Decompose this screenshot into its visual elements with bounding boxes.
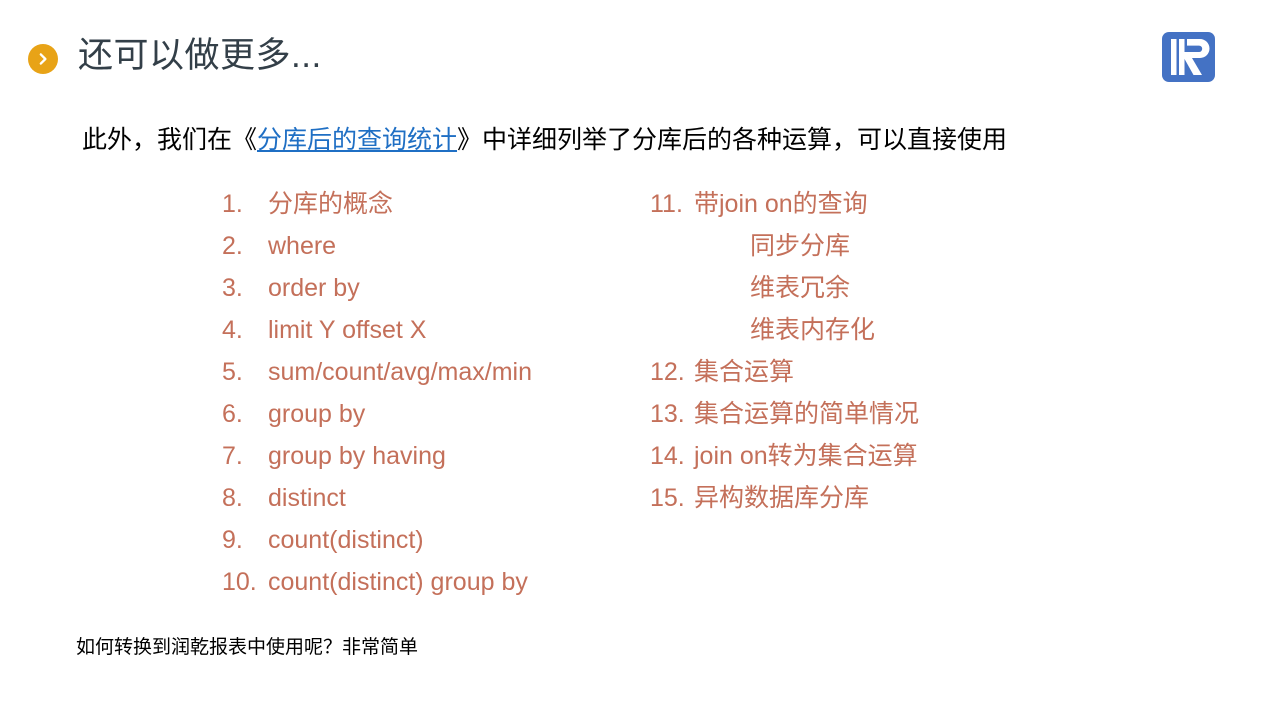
operations-list: 1. 分库的概念 2. where 3. order by 4. limit Y… <box>0 183 1280 603</box>
intro-text-after: 》中详细列举了分库后的各种运算，可以直接使用 <box>457 126 1007 154</box>
list-item[interactable]: 8. distinct <box>222 477 622 519</box>
list-sub-item[interactable]: 维表内存化 <box>650 309 1080 351</box>
list-item-number: 3. <box>222 267 268 309</box>
list-item[interactable]: 3. order by <box>222 267 622 309</box>
list-sub-item-label: 同步分库 <box>750 225 850 267</box>
list-item-number: 13. <box>650 393 694 435</box>
list-item[interactable]: 14. join on转为集合运算 <box>650 435 1080 477</box>
list-item-number: 10. <box>222 561 268 603</box>
chevron-right-icon <box>28 44 58 74</box>
list-sub-item[interactable]: 同步分库 <box>650 225 1080 267</box>
list-item-label: 集合运算的简单情况 <box>694 393 919 435</box>
list-item-label: 带join on的查询 <box>694 183 868 225</box>
list-item-number: 5. <box>222 351 268 393</box>
list-item-number: 8. <box>222 477 268 519</box>
list-item-label: order by <box>268 267 360 309</box>
list-item-label: group by having <box>268 435 446 477</box>
list-sub-item[interactable]: 维表冗余 <box>650 267 1080 309</box>
list-item[interactable]: 7. group by having <box>222 435 622 477</box>
list-item-number: 14. <box>650 435 694 477</box>
list-item[interactable]: 5. sum/count/avg/max/min <box>222 351 622 393</box>
list-item[interactable]: 12. 集合运算 <box>650 351 1080 393</box>
operations-column-right: 11. 带join on的查询 同步分库 维表冗余 维表内存化 12. 集合运算… <box>650 183 1080 519</box>
list-item-number: 15. <box>650 477 694 519</box>
list-item-label: where <box>268 225 336 267</box>
list-item-label: count(distinct) <box>268 519 424 561</box>
list-item[interactable]: 10. count(distinct) group by <box>222 561 622 603</box>
list-sub-item-label: 维表冗余 <box>750 267 850 309</box>
list-item-label: limit Y offset X <box>268 309 426 351</box>
list-item-number: 11. <box>650 183 694 225</box>
operations-column-left: 1. 分库的概念 2. where 3. order by 4. limit Y… <box>222 183 622 603</box>
list-item-label: 集合运算 <box>694 351 794 393</box>
list-item[interactable]: 13. 集合运算的简单情况 <box>650 393 1080 435</box>
list-item[interactable]: 9. count(distinct) <box>222 519 622 561</box>
list-item-number: 1. <box>222 183 268 225</box>
intro-paragraph: 此外，我们在《分库后的查询统计》中详细列举了分库后的各种运算，可以直接使用 <box>82 122 1007 158</box>
intro-text-before: 此外，我们在《 <box>82 126 257 154</box>
list-item-number: 6. <box>222 393 268 435</box>
list-item-number: 9. <box>222 519 268 561</box>
list-item-label: group by <box>268 393 365 435</box>
list-item[interactable]: 2. where <box>222 225 622 267</box>
doc-link-partitioned-query-stats[interactable]: 分库后的查询统计 <box>257 126 457 154</box>
list-item[interactable]: 6. group by <box>222 393 622 435</box>
list-sub-item-label: 维表内存化 <box>750 309 875 351</box>
list-item-label: count(distinct) group by <box>268 561 528 603</box>
list-item[interactable]: 15. 异构数据库分库 <box>650 477 1080 519</box>
list-item-label: 异构数据库分库 <box>694 477 869 519</box>
list-item-number: 4. <box>222 309 268 351</box>
list-item[interactable]: 4. limit Y offset X <box>222 309 622 351</box>
list-item[interactable]: 1. 分库的概念 <box>222 183 622 225</box>
list-item-label: join on转为集合运算 <box>694 435 918 477</box>
page-title: 还可以做更多... <box>78 31 322 81</box>
slide-header: 还可以做更多... <box>0 0 1280 100</box>
list-item-number: 7. <box>222 435 268 477</box>
list-item-label: distinct <box>268 477 346 519</box>
footer-note: 如何转换到润乾报表中使用呢？非常简单 <box>76 633 418 663</box>
list-item-label: 分库的概念 <box>268 183 393 225</box>
list-item-number: 2. <box>222 225 268 267</box>
raqsoft-logo <box>1161 31 1216 83</box>
list-item[interactable]: 11. 带join on的查询 <box>650 183 1080 225</box>
list-item-number: 12. <box>650 351 694 393</box>
list-item-label: sum/count/avg/max/min <box>268 351 532 393</box>
